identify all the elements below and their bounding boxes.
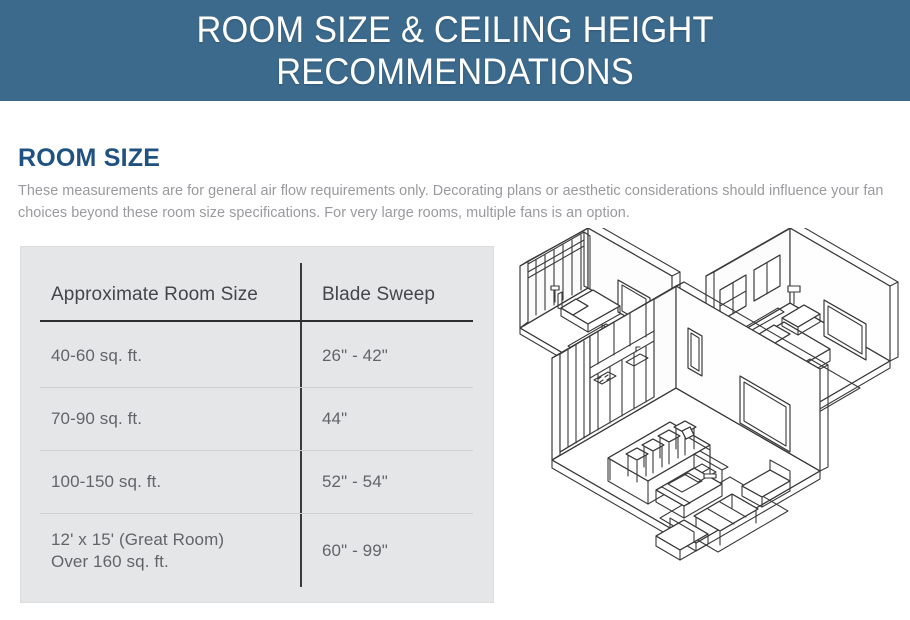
table-row: 100-150 sq. ft. 52" - 54": [21, 451, 493, 513]
cell-room-size: 100-150 sq. ft.: [21, 471, 300, 493]
table-row: 70-90 sq. ft. 44": [21, 388, 493, 450]
column-header-blade-sweep: Blade Sweep: [300, 284, 493, 306]
header-banner: ROOM SIZE & CEILING HEIGHT RECOMMENDATIO…: [0, 0, 910, 101]
page-title: ROOM SIZE & CEILING HEIGHT RECOMMENDATIO…: [196, 9, 713, 93]
page-root: ROOM SIZE & CEILING HEIGHT RECOMMENDATIO…: [0, 0, 910, 620]
cell-room-size: 70-90 sq. ft.: [21, 408, 300, 430]
section-intro-text: These measurements are for general air f…: [18, 180, 894, 224]
column-header-room-size: Approximate Room Size: [21, 284, 300, 306]
cell-blade-sweep: 52" - 54": [300, 471, 493, 493]
cell-blade-sweep: 60" - 99": [300, 540, 493, 562]
room-illustrations: [498, 228, 910, 616]
cell-blade-sweep: 26" - 42": [300, 345, 493, 367]
table-header-rule: [40, 320, 473, 322]
cell-blade-sweep: 44": [300, 408, 493, 430]
room-size-table: Approximate Room Size Blade Sweep 40-60 …: [21, 247, 493, 602]
table-row: 40-60 sq. ft. 26" - 42": [21, 325, 493, 387]
table-header-row: Approximate Room Size Blade Sweep: [21, 275, 493, 315]
cell-room-size: 40-60 sq. ft.: [21, 345, 300, 367]
room-size-table-panel: Approximate Room Size Blade Sweep 40-60 …: [20, 246, 494, 603]
section-heading-room-size: ROOM SIZE: [18, 144, 160, 173]
cell-room-size: 12' x 15' (Great Room) Over 160 sq. ft.: [21, 529, 300, 573]
table-row: 12' x 15' (Great Room) Over 160 sq. ft. …: [21, 514, 493, 588]
